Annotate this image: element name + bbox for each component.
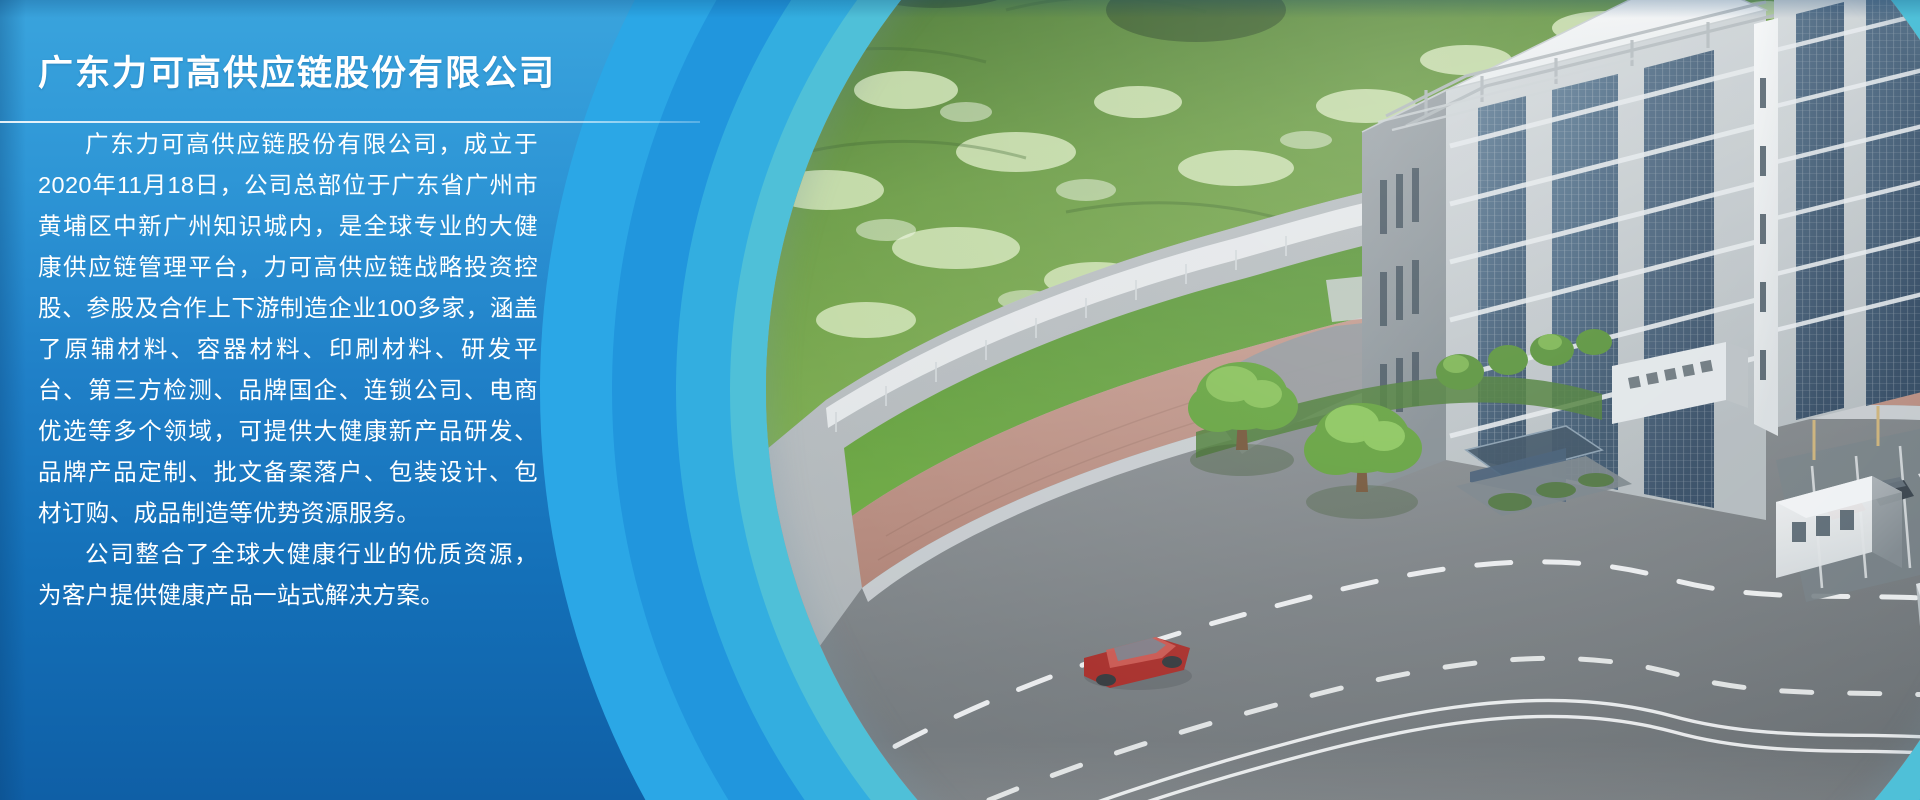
intro-text-column: 广东力可高供应链股份有限公司 广东力可高供应链股份有限公司，成立于2020年11… [0, 0, 620, 616]
title-divider [0, 121, 700, 123]
intro-paragraph-1: 广东力可高供应链股份有限公司，成立于2020年11月18日，公司总部位于广东省广… [38, 124, 538, 534]
intro-body: 广东力可高供应链股份有限公司，成立于2020年11月18日，公司总部位于广东省广… [38, 96, 538, 616]
facility-illustration [766, 0, 1920, 800]
page-title: 广东力可高供应链股份有限公司 [38, 0, 620, 96]
intro-paragraph-2: 公司整合了全球大健康行业的优质资源，为客户提供健康产品一站式解决方案。 [38, 534, 538, 616]
company-intro-banner: 广东力可高供应链股份有限公司 广东力可高供应链股份有限公司，成立于2020年11… [0, 0, 1920, 800]
facility-aerial-photo [766, 0, 1920, 800]
